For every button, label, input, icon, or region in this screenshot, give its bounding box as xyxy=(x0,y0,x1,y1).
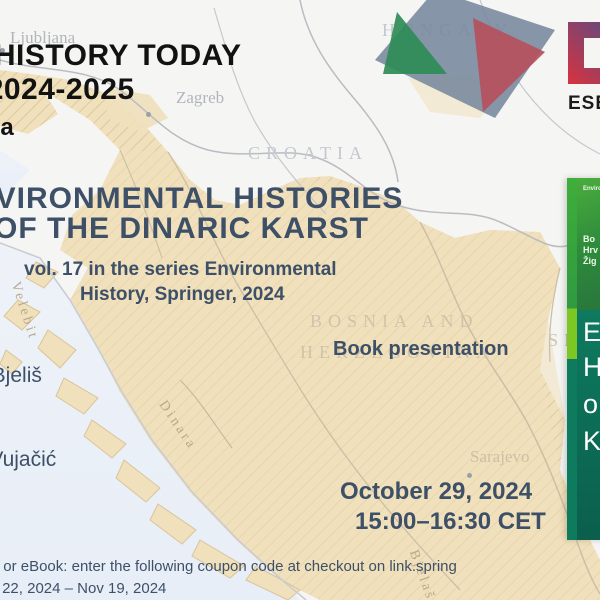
book-spine xyxy=(567,178,577,540)
event-time: 15:00–16:30 CET xyxy=(355,508,546,536)
book-title-line: o xyxy=(583,390,598,419)
book-author-line: Bo xyxy=(583,234,595,245)
event-poster: CROATIA BOSNIA AND HERZEGOVINA HUNGARY S… xyxy=(0,0,600,600)
book-cover: Environmental History Bo Hrv Žig E H o K xyxy=(567,178,600,540)
poster-header-line1: TAL HISTORY TODAY xyxy=(0,39,242,73)
eseh-logo: ESEH xyxy=(568,22,600,122)
editor-name: uerst-Bjeliš xyxy=(0,364,42,388)
book-author-line: Hrv xyxy=(583,245,598,256)
poster-title-line2: OF THE DINARIC KARST xyxy=(0,212,369,246)
footer-line2: GE / Valid Oct 22, 2024 – Nov 19, 2024 xyxy=(0,580,166,597)
editor-name: elcer Vujačić xyxy=(0,448,56,472)
book-title-line: H xyxy=(583,353,600,382)
book-title-line: E xyxy=(583,318,600,347)
poster-header-line2: IES 2024-2025 xyxy=(0,73,135,107)
event-date: October 29, 2024 xyxy=(340,478,532,506)
eseh-bracket-icon xyxy=(568,22,600,84)
eseh-wordmark: ESEH xyxy=(568,93,600,115)
event-type-label: Book presentation xyxy=(333,338,509,361)
poster-subtitle-line1: vol. 17 in the series Environmental xyxy=(0,259,337,281)
book-author-line: Žig xyxy=(583,256,597,267)
poster-subtitle-line2: History, Springer, 2024 xyxy=(0,284,285,306)
poster-title-line1: ENVIRONMENTAL HISTORIES xyxy=(0,182,403,216)
book-title-line: K xyxy=(583,427,600,456)
footer-line1: e printed book or eBook: enter the follo… xyxy=(0,558,457,575)
decorative-triangles xyxy=(365,0,565,130)
map-dot-zagreb xyxy=(146,112,151,117)
poster-header-line3: lovenia xyxy=(0,114,14,142)
book-series-label: Environmental History xyxy=(583,186,600,192)
